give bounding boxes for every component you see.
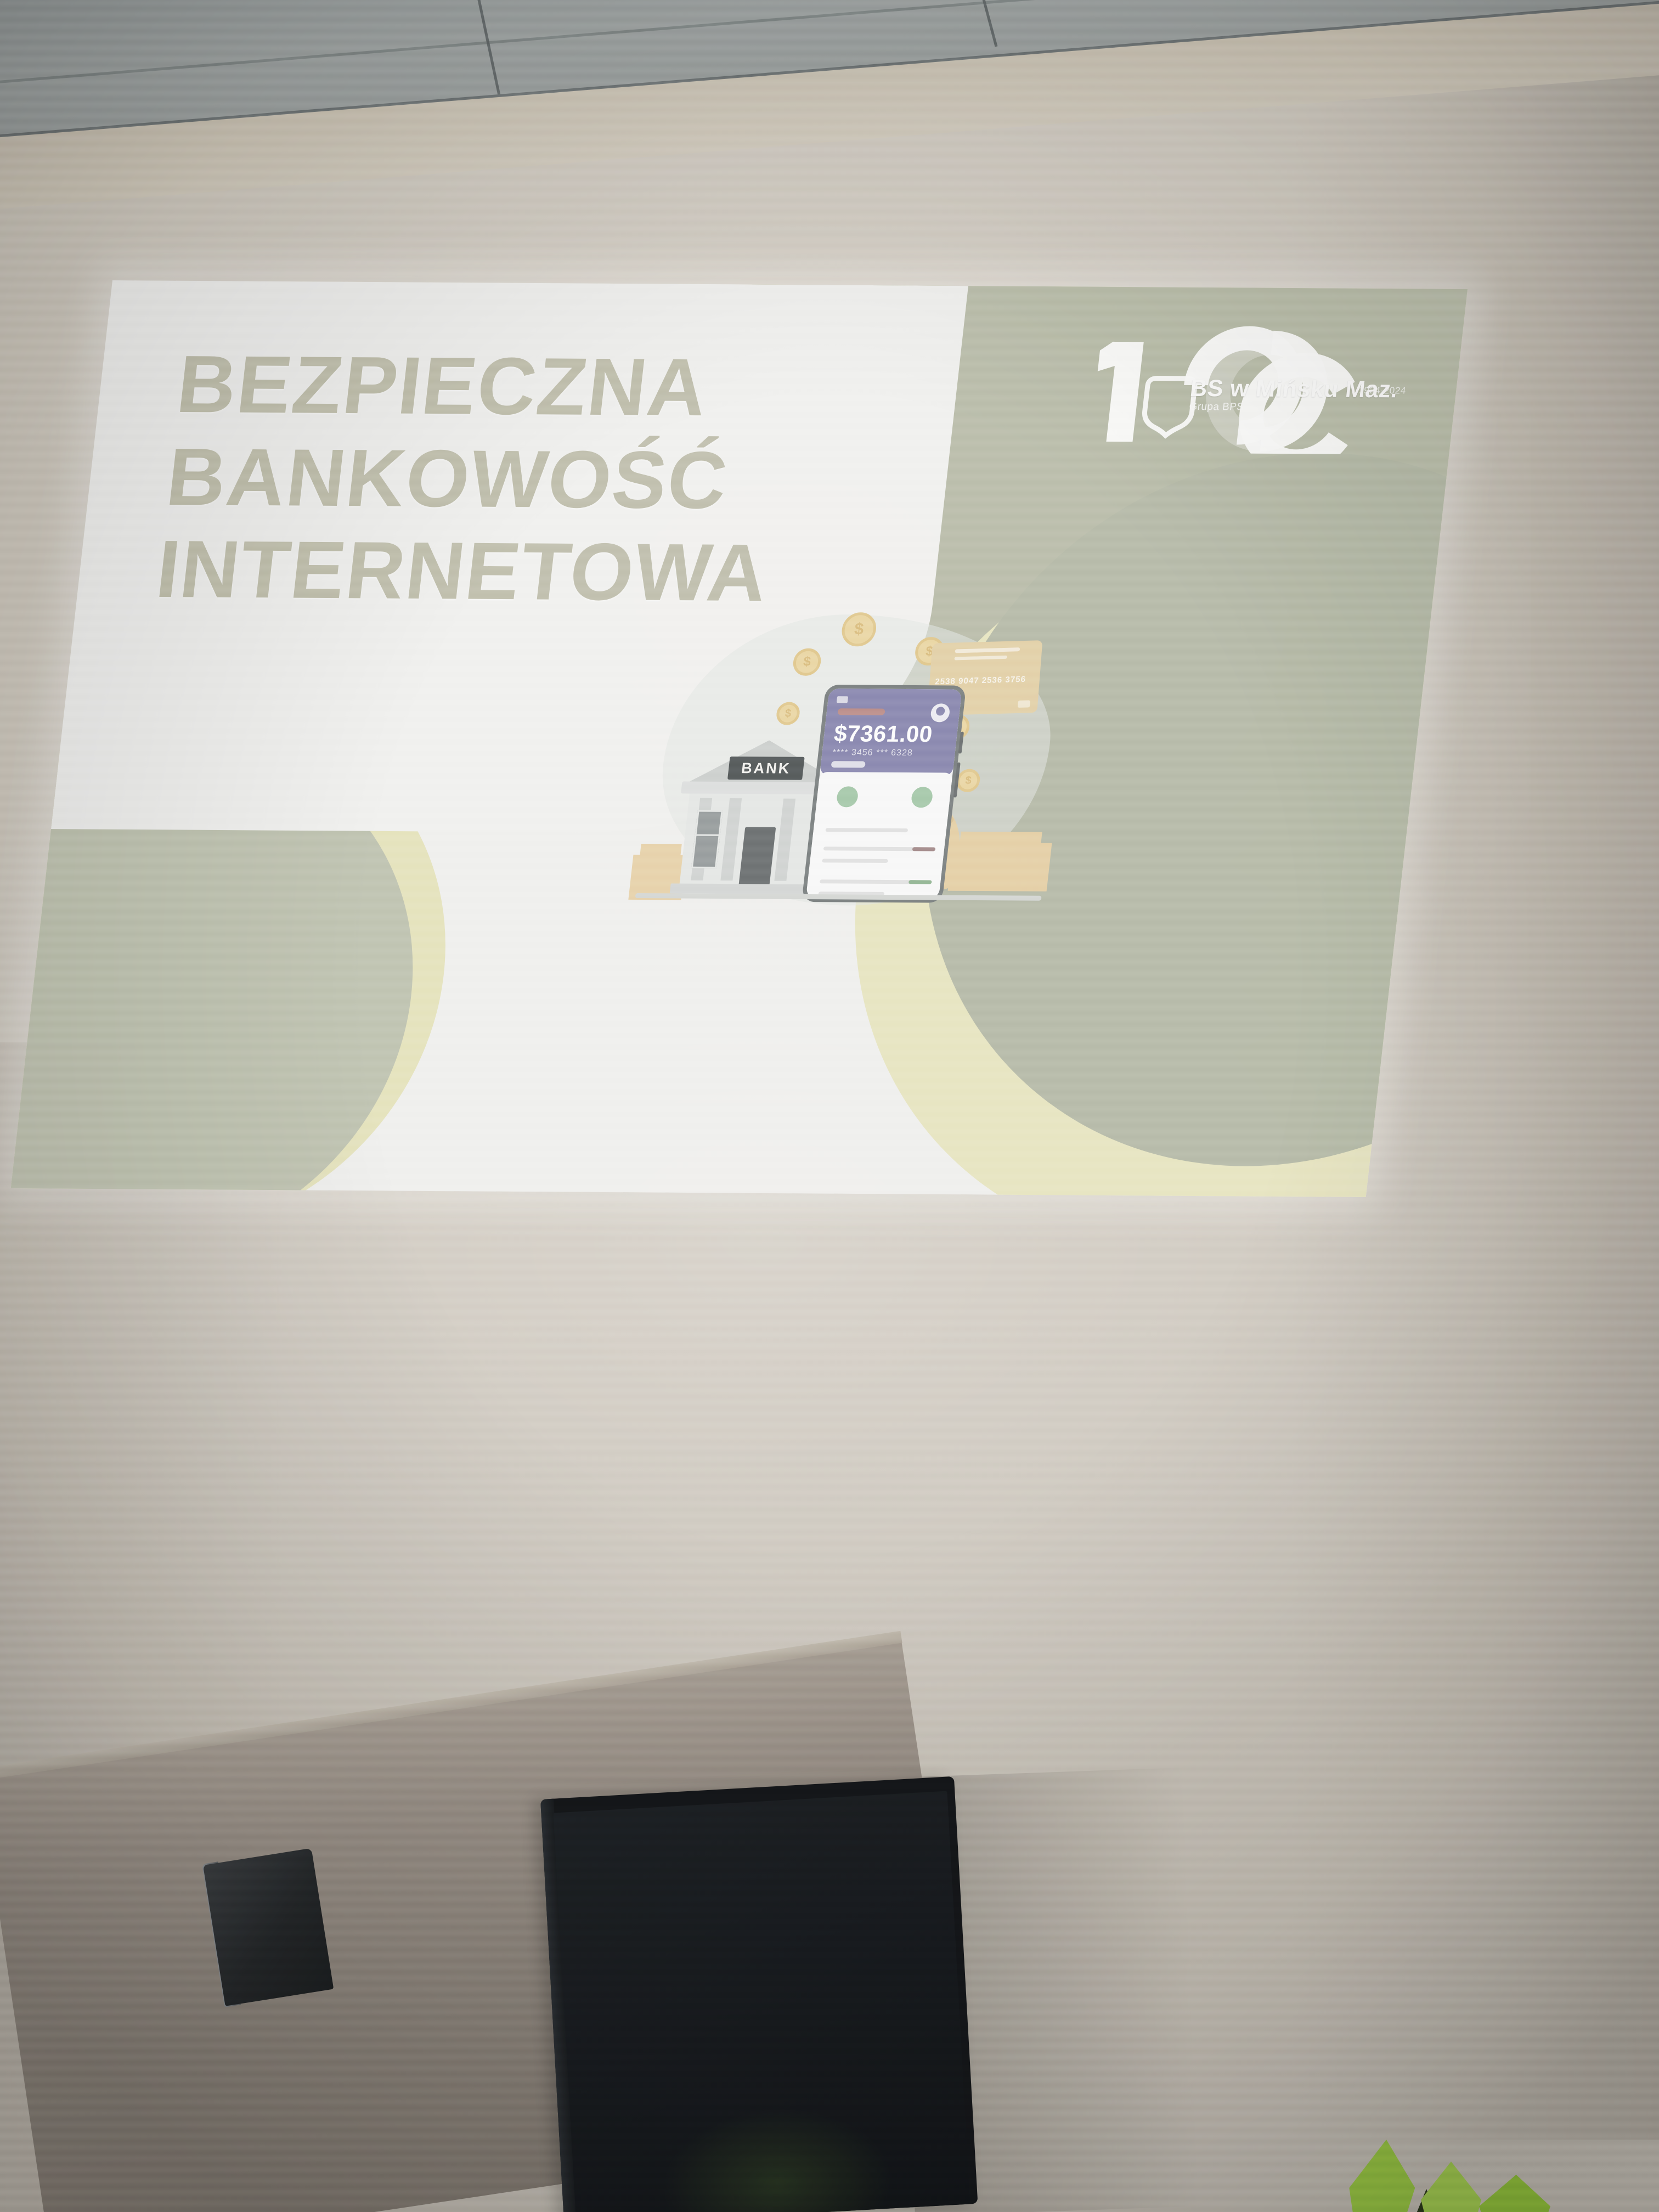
phone-transaction-list: [806, 772, 953, 899]
list-item: [820, 879, 918, 884]
list-item-amount: [912, 847, 936, 851]
office-plant: [1333, 2129, 1564, 2212]
monitor-right-screen: [553, 1791, 970, 2212]
list-item: [823, 847, 922, 851]
account-number: **** 3456 *** 6328: [832, 748, 913, 758]
account-balance: $7361.00: [833, 720, 934, 747]
logo-tagline: Grupa BPS: [1188, 401, 1244, 414]
card-stripe-second: [954, 656, 1007, 661]
anniversary-logo: BS w Mińsku Maz. Grupa BPS 1924-2024: [1079, 315, 1401, 455]
slide-title: BEZPIECZNA BANKOWOŚĆ INTERNETOWA: [152, 338, 896, 621]
list-header-line: [825, 828, 908, 832]
screenshot-root: BEZPIECZNA BANKOWOŚĆ INTERNETOWA: [0, 0, 1659, 2212]
transfer-icon: [836, 786, 859, 807]
avatar-icon: [930, 703, 951, 722]
plant-leaf: [1479, 2175, 1550, 2212]
monitor-screen-reflection: [658, 2102, 895, 2212]
monitor-right: [540, 1776, 978, 2212]
smartphone-graphic: $7361.00 **** 3456 *** 6328: [802, 685, 966, 903]
bank-sign: BANK: [727, 757, 805, 780]
list-item-amount: [909, 880, 932, 884]
card-chip-icon: [837, 708, 885, 715]
card-number: 2538 9047 2536 3756: [935, 675, 1026, 687]
bank-app-logo-icon: [837, 696, 848, 703]
phone-balance-card: $7361.00 **** 3456 *** 6328: [820, 689, 962, 776]
phone-screen: $7361.00 **** 3456 *** 6328: [806, 689, 962, 899]
logo-years: 1924-2024: [1358, 385, 1407, 397]
bank-window: [691, 834, 720, 868]
card-brand-mark: [1018, 700, 1030, 708]
plant-leaf: [1421, 2162, 1481, 2212]
payment-icon: [910, 787, 933, 808]
slide-canvas: BEZPIECZNA BANKOWOŚĆ INTERNETOWA: [11, 280, 1468, 1197]
monitor-left: [203, 1848, 334, 2006]
plant-leaf: [1346, 2140, 1419, 2212]
card-stripe-top: [955, 647, 1020, 653]
balance-label-pill: [831, 761, 866, 768]
projected-slide: BEZPIECZNA BANKOWOŚĆ INTERNETOWA: [11, 280, 1468, 1197]
online-banking-illustration: 2538 9047 2536 3756 BANK: [622, 608, 1091, 934]
list-item-sub: [822, 859, 888, 863]
banknote-stack: [948, 843, 1052, 891]
